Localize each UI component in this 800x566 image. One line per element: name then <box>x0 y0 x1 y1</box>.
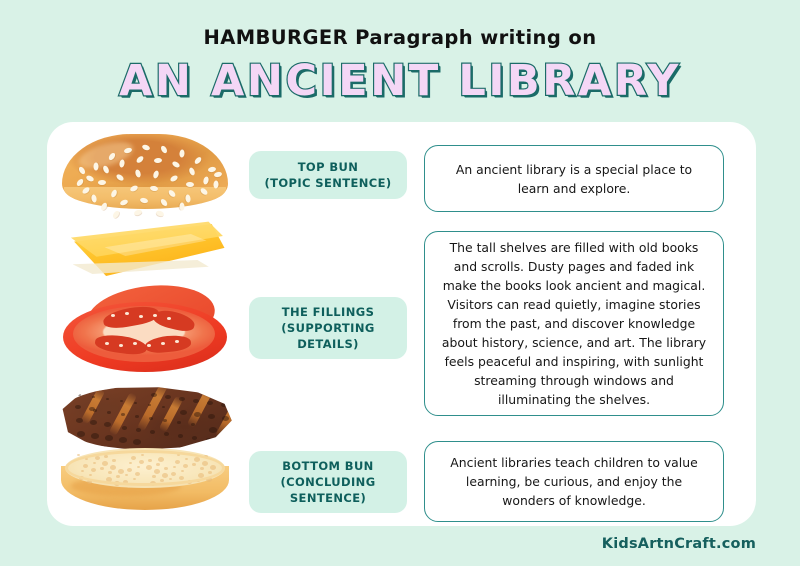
label-chip-top-bun: TOP BUN (TOPIC SENTENCE) <box>249 151 407 199</box>
tomato-seed <box>175 340 179 343</box>
patty-speck <box>165 395 171 399</box>
label-chip-fillings: THE FILLINGS (SUPPORTING DETAILS) <box>249 297 407 359</box>
cheese-slice-illustration <box>65 220 225 282</box>
patty-speck <box>91 433 99 439</box>
patty-speck <box>119 437 127 443</box>
patty-speck <box>75 405 81 409</box>
tomato-seed <box>105 342 109 345</box>
text-box-topic-sentence-body: An ancient library is a special place to… <box>439 160 709 198</box>
patty-speck <box>104 422 111 427</box>
patty-speck <box>179 397 185 401</box>
patty-speck <box>178 434 183 438</box>
tomato-seed <box>167 317 171 320</box>
text-box-topic-sentence: An ancient library is a special place to… <box>424 145 724 212</box>
patty-speck <box>78 394 81 396</box>
patty-speck <box>122 426 127 430</box>
sesame-seed <box>213 180 218 188</box>
patty-speck <box>208 414 215 419</box>
label-chip-bottom-bun: BOTTOM BUN (CONCLUDING SENTENCE) <box>249 451 407 513</box>
sesame-seed <box>179 149 185 157</box>
tomato-seed <box>133 342 137 345</box>
tomato-seed <box>153 314 157 317</box>
text-box-supporting-details: The tall shelves are filled with old boo… <box>424 231 724 416</box>
sesame-seed <box>155 210 164 217</box>
patty-speck <box>106 398 109 400</box>
text-box-supporting-details-body: The tall shelves are filled with old boo… <box>439 238 709 409</box>
tomato-slice-illustration <box>59 284 231 376</box>
patty-speck <box>207 401 213 405</box>
patty-speck <box>191 423 195 426</box>
hamburger-illustration-column <box>47 122 242 526</box>
patty-speck <box>121 413 125 416</box>
patty-speck <box>64 392 67 394</box>
bottom-bun-rim <box>65 450 225 486</box>
tomato-seed <box>161 342 165 345</box>
patty-speck <box>77 431 85 437</box>
sesame-seed <box>93 163 98 171</box>
patty-speck <box>76 418 83 423</box>
patty-speck <box>223 429 231 435</box>
bottom-bun-illustration <box>61 448 229 522</box>
label-chip-fillings-text: THE FILLINGS (SUPPORTING DETAILS) <box>257 304 399 352</box>
patty-speck <box>133 439 141 445</box>
top-bun-illustration <box>62 134 228 214</box>
patty-speck <box>107 411 111 414</box>
patty-speck <box>192 436 197 440</box>
page-subtitle: HAMBURGER Paragraph writing on <box>0 28 800 48</box>
page-header: HAMBURGER Paragraph writing on AN ANCIEN… <box>0 0 800 122</box>
patty-speck <box>221 403 227 407</box>
patty-speck <box>220 440 225 444</box>
text-box-concluding-sentence: Ancient libraries teach children to valu… <box>424 441 724 522</box>
patty-speck <box>135 415 139 418</box>
label-chip-top-bun-text: TOP BUN (TOPIC SENTENCE) <box>264 159 391 191</box>
site-watermark: KidsArtnCraft.com <box>602 536 756 552</box>
sesame-seed <box>111 210 120 219</box>
sesame-seed <box>179 202 184 210</box>
patty-body <box>56 386 234 450</box>
tomato-seed <box>147 344 151 347</box>
patty-speck <box>150 430 155 434</box>
sesame-seed <box>97 180 105 185</box>
patty-speck <box>163 419 167 422</box>
tomato-seed <box>111 314 115 317</box>
patty-speck <box>164 432 169 436</box>
label-chip-bottom-bun-text: BOTTOM BUN (CONCLUDING SENTENCE) <box>257 458 399 506</box>
patty-speck <box>134 402 137 404</box>
patty-speck <box>162 406 165 408</box>
beef-patty-illustration <box>56 380 234 456</box>
patty-speck <box>90 420 97 425</box>
patty-speck <box>206 438 211 442</box>
page-title: AN ANCIENT LIBRARY <box>0 60 800 103</box>
patty-speck <box>136 428 141 432</box>
tomato-seed <box>119 344 123 347</box>
patty-speck <box>222 416 229 421</box>
patty-speck <box>177 421 181 424</box>
patty-speck <box>194 412 201 417</box>
patty-speck <box>120 400 123 402</box>
sesame-seed <box>133 209 142 216</box>
patty-speck <box>209 427 217 433</box>
patty-speck <box>105 435 113 441</box>
patty-speck <box>180 410 187 415</box>
grill-mark <box>186 384 215 428</box>
tomato-seed <box>125 312 129 315</box>
patty-speck <box>149 417 153 420</box>
text-box-concluding-sentence-body: Ancient libraries teach children to valu… <box>439 453 709 510</box>
tomato-seed <box>139 315 143 318</box>
grill-mark <box>214 388 246 439</box>
bread-crumb <box>77 454 80 456</box>
